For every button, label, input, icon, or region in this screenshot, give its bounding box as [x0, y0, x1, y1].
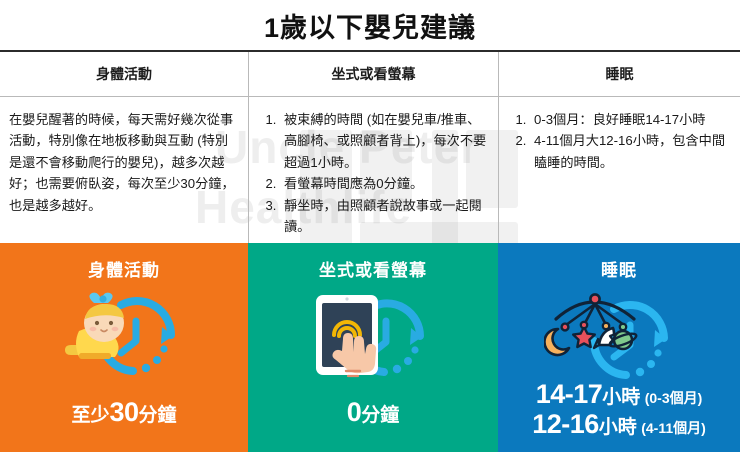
physical-activity-text: 在嬰兒醒著的時候，每天需好幾次從事活動，特別像在地板移動與互動 (特別是還不會移… — [9, 109, 239, 216]
panel-physical-activity: 身體活動 — [0, 243, 248, 452]
footer-suffix: 分鐘 — [139, 405, 177, 426]
footer-line: 14-17小時 (0-3個月) — [498, 380, 740, 408]
infographic-root: Uncle Peter Healthlife Sp ence 1歲以下嬰兒建議 … — [0, 0, 740, 452]
footer-suffix: 分鐘 — [361, 405, 399, 426]
footer-prefix: 至少 — [71, 405, 109, 426]
panel-title-sedentary-screen: 坐式或看螢幕 — [319, 256, 427, 281]
list-item: 4-11個月大12-16小時，包含中間瞌睡的時間。 — [530, 130, 731, 173]
footer-note: (4-11個月) — [641, 420, 706, 436]
list-item: 靜坐時，由照顧者說故事或一起閱讀。 — [280, 195, 489, 238]
baby-mobile-moon-star-clock-icon — [544, 283, 694, 389]
sleep-list: 0-3個月：良好睡眠14-17小時 4-11個月大12-16小時，包含中間瞌睡的… — [508, 109, 731, 173]
panel-title-sleep: 睡眠 — [601, 256, 637, 281]
cell-sleep: 0-3個月：良好睡眠14-17小時 4-11個月大12-16小時，包含中間瞌睡的… — [498, 97, 740, 243]
footer-value: 0 — [347, 397, 362, 427]
footer-line: 12-16小時 (4-11個月) — [498, 410, 740, 438]
list-item: 看螢幕時間應為0分鐘。 — [280, 173, 489, 194]
panel-footer-sedentary-screen: 0分鐘 — [248, 398, 498, 426]
table-header-row: 身體活動 坐式或看螢幕 睡眠 — [0, 52, 740, 97]
panel-footer-sleep: 14-17小時 (0-3個月) 12-16小時 (4-11個月) — [498, 380, 740, 440]
footer-line: 至少30分鐘 — [0, 398, 248, 426]
footer-value: 30 — [109, 397, 138, 427]
table-body-row: 在嬰兒醒著的時候，每天需好幾次從事活動，特別像在地板移動與互動 (特別是還不會移… — [0, 97, 740, 243]
cell-physical-activity: 在嬰兒醒著的時候，每天需好幾次從事活動，特別像在地板移動與互動 (特別是還不會移… — [0, 97, 248, 243]
crawling-baby-clock-icon — [49, 283, 199, 389]
panel-footer-physical-activity: 至少30分鐘 — [0, 398, 248, 426]
panel-sedentary-screen: 坐式或看螢幕 — [248, 243, 498, 452]
footer-suffix: 小時 — [599, 417, 637, 438]
footer-line: 0分鐘 — [248, 398, 498, 426]
footer-suffix: 小時 — [602, 387, 640, 408]
page-title: 1歲以下嬰兒建議 — [264, 6, 476, 45]
panel-title-physical-activity: 身體活動 — [88, 256, 160, 281]
page-title-bar: 1歲以下嬰兒建議 — [0, 0, 740, 52]
list-item: 被束縛的時間 (如在嬰兒車/推車、高腳椅、或照顧者背上)，每次不要超過1小時。 — [280, 109, 489, 173]
list-item: 0-3個月：良好睡眠14-17小時 — [530, 109, 731, 130]
column-header-sleep: 睡眠 — [498, 52, 740, 96]
column-header-physical-activity: 身體活動 — [0, 52, 248, 96]
summary-panel-row: 身體活動 — [0, 243, 740, 452]
tablet-hand-touch-clock-icon — [298, 283, 448, 389]
sedentary-screen-list: 被束縛的時間 (如在嬰兒車/推車、高腳椅、或照顧者背上)，每次不要超過1小時。 … — [258, 109, 489, 237]
cell-sedentary-screen: 被束縛的時間 (如在嬰兒車/推車、高腳椅、或照顧者背上)，每次不要超過1小時。 … — [248, 97, 498, 243]
footer-value: 14-17 — [536, 379, 603, 409]
column-header-sedentary-screen: 坐式或看螢幕 — [248, 52, 498, 96]
footer-note: (0-3個月) — [645, 390, 703, 406]
panel-sleep: 睡眠 — [498, 243, 740, 452]
footer-value: 12-16 — [532, 409, 599, 439]
